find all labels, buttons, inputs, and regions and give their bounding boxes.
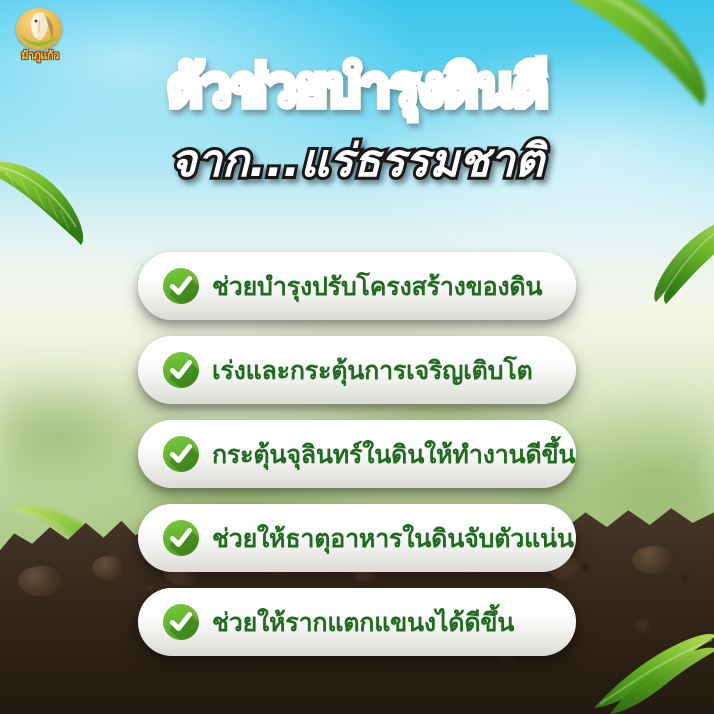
page-subtitle: จาก...แร่ธรรมชาติ xyxy=(164,124,550,196)
poster-canvas: ม้าภูแก้ว ตัวช่วยบำรุงดินดี จาก...แร่ธรร… xyxy=(0,0,714,714)
benefit-label: เร่งและกระตุ้นการเจริญเติบโต xyxy=(212,358,533,383)
check-circle-icon xyxy=(162,435,200,473)
benefit-label: กระตุ้นจุลินทร์ในดินให้ทำงานดีขึ้น xyxy=(212,442,575,467)
check-circle-icon xyxy=(162,519,200,557)
benefit-item[interactable]: กระตุ้นจุลินทร์ในดินให้ทำงานดีขึ้น xyxy=(138,420,576,488)
check-circle-icon xyxy=(162,351,200,389)
check-circle-icon xyxy=(162,267,200,305)
horse-logo-icon xyxy=(16,8,62,50)
benefit-label: ช่วยให้รากแตกแขนงได้ดีขึ้น xyxy=(212,610,514,635)
heading-block: ตัวช่วยบำรุงดินดี จาก...แร่ธรรมชาติ xyxy=(0,58,714,196)
benefit-list: ช่วยบำรุงปรับโครงสร้างของดิน เร่งและกระต… xyxy=(0,252,714,656)
page-title: ตัวช่วยบำรุงดินดี xyxy=(161,58,553,116)
subtitle-wrap: จาก...แร่ธรรมชาติ xyxy=(0,124,714,196)
benefit-item[interactable]: ช่วยบำรุงปรับโครงสร้างของดิน xyxy=(138,252,576,320)
benefit-label: ช่วยบำรุงปรับโครงสร้างของดิน xyxy=(212,274,542,299)
benefit-item[interactable]: ช่วยให้รากแตกแขนงได้ดีขึ้น xyxy=(138,588,576,656)
check-circle-icon xyxy=(162,603,200,641)
benefit-label: ช่วยให้ธาตุอาหารในดินจับตัวแน่น xyxy=(212,526,574,551)
benefit-item[interactable]: เร่งและกระตุ้นการเจริญเติบโต xyxy=(138,336,576,404)
benefit-item[interactable]: ช่วยให้ธาตุอาหารในดินจับตัวแน่น xyxy=(138,504,576,572)
